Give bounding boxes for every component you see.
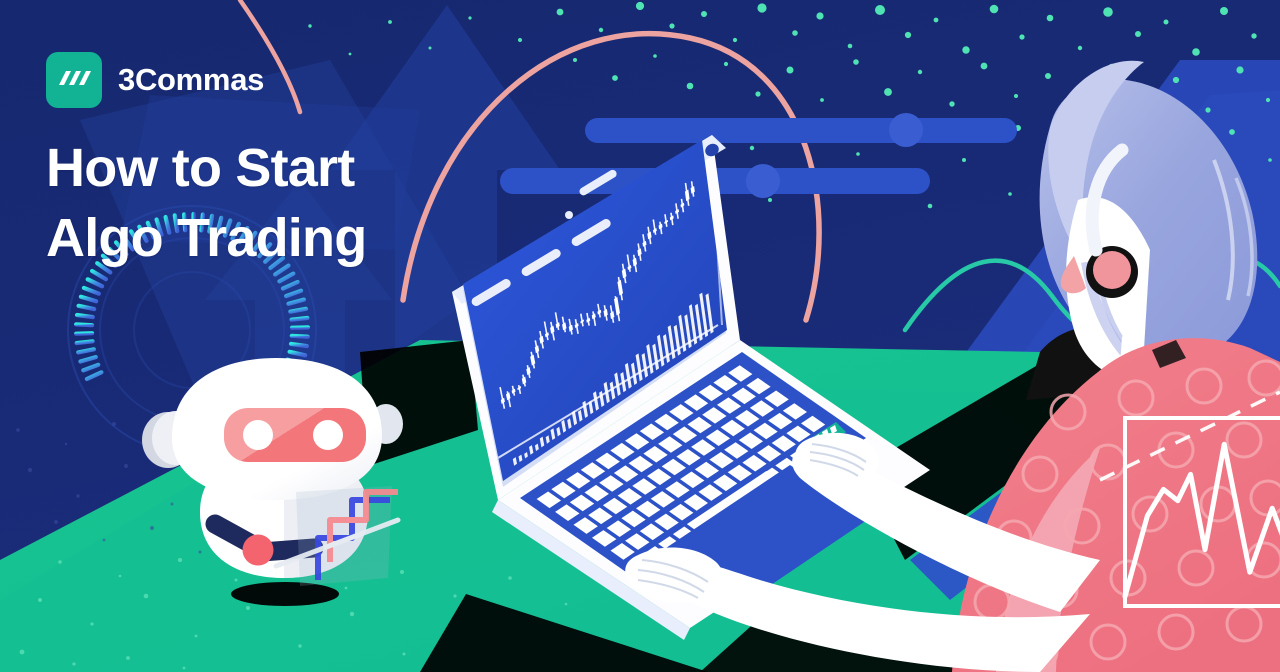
- robot-eye-left: [243, 420, 273, 450]
- headline-line-2: Algo Trading: [46, 203, 366, 273]
- pill-bar-top: [585, 118, 1017, 143]
- headline-line-1: How to Start: [46, 133, 366, 203]
- page-title: How to Start Algo Trading: [46, 133, 366, 273]
- brand-wordmark: 3Commas: [118, 62, 264, 98]
- robot-eye-right: [313, 420, 343, 450]
- robot-joint: [243, 535, 274, 566]
- three-commas-bars-icon: [46, 52, 102, 108]
- hero-banner: 3Commas How to Start Algo Trading: [0, 0, 1280, 672]
- brand-lockup[interactable]: 3Commas: [46, 52, 264, 108]
